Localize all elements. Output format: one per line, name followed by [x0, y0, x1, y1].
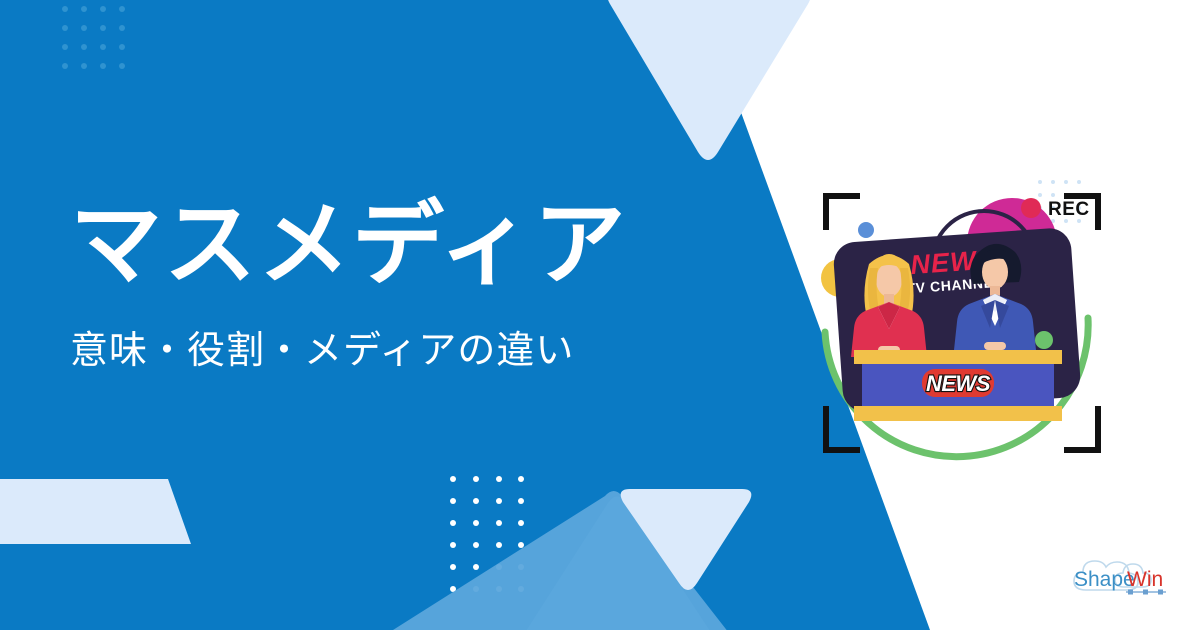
- page-subtitle: 意味・役割・メディアの違い: [70, 328, 810, 374]
- logo-text-shape: Shape: [1074, 568, 1135, 591]
- news-studio-illustration: NEWS TV CHANNEL: [812, 168, 1112, 470]
- title-card-canvas: マスメディア 意味・役割・メディアの違い NEWS TV CHANNEL: [0, 0, 1200, 630]
- blue-dot: [858, 222, 874, 238]
- rec-indicator: REC: [1021, 198, 1090, 220]
- green-dot: [1035, 331, 1053, 349]
- desk-badge-text: NEWS: [926, 371, 991, 396]
- rec-dot-icon: [1021, 198, 1041, 218]
- hero-text-block: マスメディア 意味・役割・メディアの違い: [70, 196, 810, 373]
- shapewin-logo[interactable]: Shape Win: [1062, 554, 1180, 606]
- corner-bracket-bottom-right: [1064, 406, 1098, 450]
- rec-label: REC: [1048, 199, 1090, 220]
- desk-news-badge: NEWS: [922, 369, 994, 397]
- logo-connector-icon: [1126, 590, 1166, 595]
- desk-bottom-bar: [854, 406, 1062, 421]
- pale-parallelogram-bottom-left: [0, 479, 191, 544]
- page-title: マスメディア: [70, 196, 810, 294]
- corner-bracket-top-left: [826, 196, 860, 230]
- desk-top-bar: [854, 350, 1062, 364]
- logo-text-win: Win: [1127, 568, 1163, 591]
